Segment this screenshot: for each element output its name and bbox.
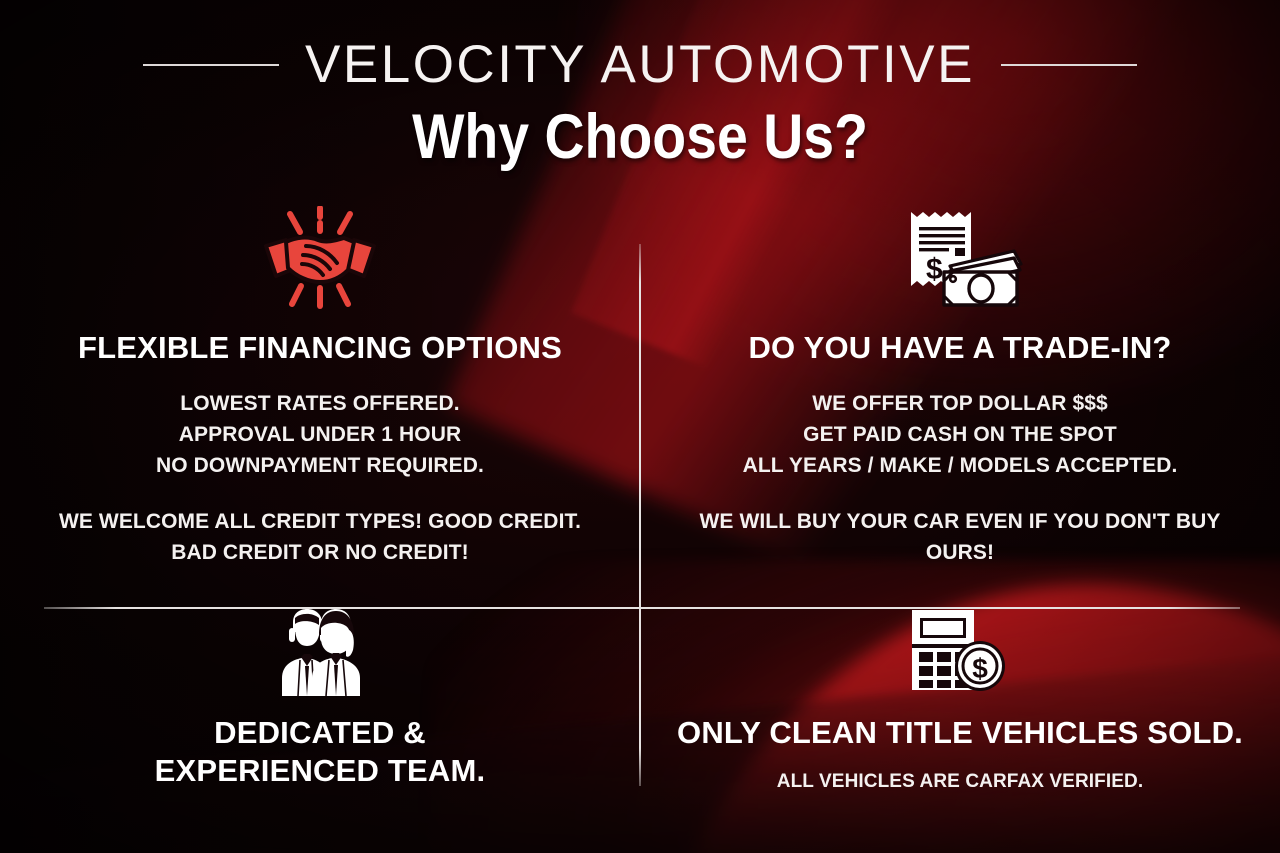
receipt-cash-icon: $ [893,206,1027,312]
handshake-icon [260,206,380,312]
body-line: WE OFFER TOP DOLLAR $$$ [664,388,1256,419]
feature-title-trade-in: DO YOU HAVE A TRADE-IN? [748,330,1171,366]
body-line: GET PAID CASH ON THE SPOT [664,419,1256,450]
title-line: EXPERIENCED TEAM. [155,752,486,790]
feature-cell-financing: FLEXIBLE FINANCING OPTIONS LOWEST RATES … [0,206,640,608]
left-rule [143,64,279,66]
feature-title-financing: FLEXIBLE FINANCING OPTIONS [78,330,562,366]
feature-body-trade-in: WE OFFER TOP DOLLAR $$$ GET PAID CASH ON… [664,388,1256,567]
paragraph: WE WILL BUY YOUR CAR EVEN IF YOU DON'T B… [664,506,1256,568]
feature-cell-clean-title: $ ONLY CLEAN TITLE VEHICLES SOLD. ALL VE… [640,608,1280,853]
calculator-dollar-icon: $ [908,608,1012,700]
body-line: LOWEST RATES OFFERED. [59,388,581,419]
title-line: DEDICATED & [155,714,486,752]
brand-name: VELOCITY AUTOMOTIVE [305,38,975,91]
paragraph: WE OFFER TOP DOLLAR $$$ GET PAID CASH ON… [664,388,1256,481]
feature-title-clean-title: ONLY CLEAN TITLE VEHICLES SOLD. [677,714,1243,752]
feature-cell-trade-in: $ DO YOU HAVE A TRADE-IN? WE OFFER T [640,206,1280,608]
body-line: ALL VEHICLES ARE CARFAX VERIFIED. [777,768,1143,796]
why-choose-us-banner: VELOCITY AUTOMOTIVE Why Choose Us? [0,0,1280,853]
paragraph: ALL VEHICLES ARE CARFAX VERIFIED. [777,768,1143,796]
feature-title-team: DEDICATED & EXPERIENCED TEAM. [155,714,486,790]
paragraph: WE WELCOME ALL CREDIT TYPES! GOOD CREDIT… [59,506,581,568]
svg-text:$: $ [972,653,988,684]
body-line: WE WILL BUY YOUR CAR EVEN IF YOU DON'T B… [664,506,1256,568]
page-title: Why Choose Us? [77,106,1203,169]
feature-body-financing: LOWEST RATES OFFERED. APPROVAL UNDER 1 H… [59,388,581,567]
svg-text:$: $ [926,253,943,286]
team-people-icon [264,608,376,700]
feature-body-clean-title: ALL VEHICLES ARE CARFAX VERIFIED. [777,768,1143,796]
body-line: WE WELCOME ALL CREDIT TYPES! GOOD CREDIT… [59,506,581,537]
brand-header: VELOCITY AUTOMOTIVE [0,38,1280,91]
body-line: BAD CREDIT OR NO CREDIT! [59,537,581,568]
right-rule [1001,64,1137,66]
feature-grid: FLEXIBLE FINANCING OPTIONS LOWEST RATES … [0,206,1280,853]
body-line: NO DOWNPAYMENT REQUIRED. [59,450,581,481]
feature-cell-team: DEDICATED & EXPERIENCED TEAM. [0,608,640,853]
body-line: ALL YEARS / MAKE / MODELS ACCEPTED. [664,450,1256,481]
paragraph: LOWEST RATES OFFERED. APPROVAL UNDER 1 H… [59,388,581,481]
body-line: APPROVAL UNDER 1 HOUR [59,419,581,450]
